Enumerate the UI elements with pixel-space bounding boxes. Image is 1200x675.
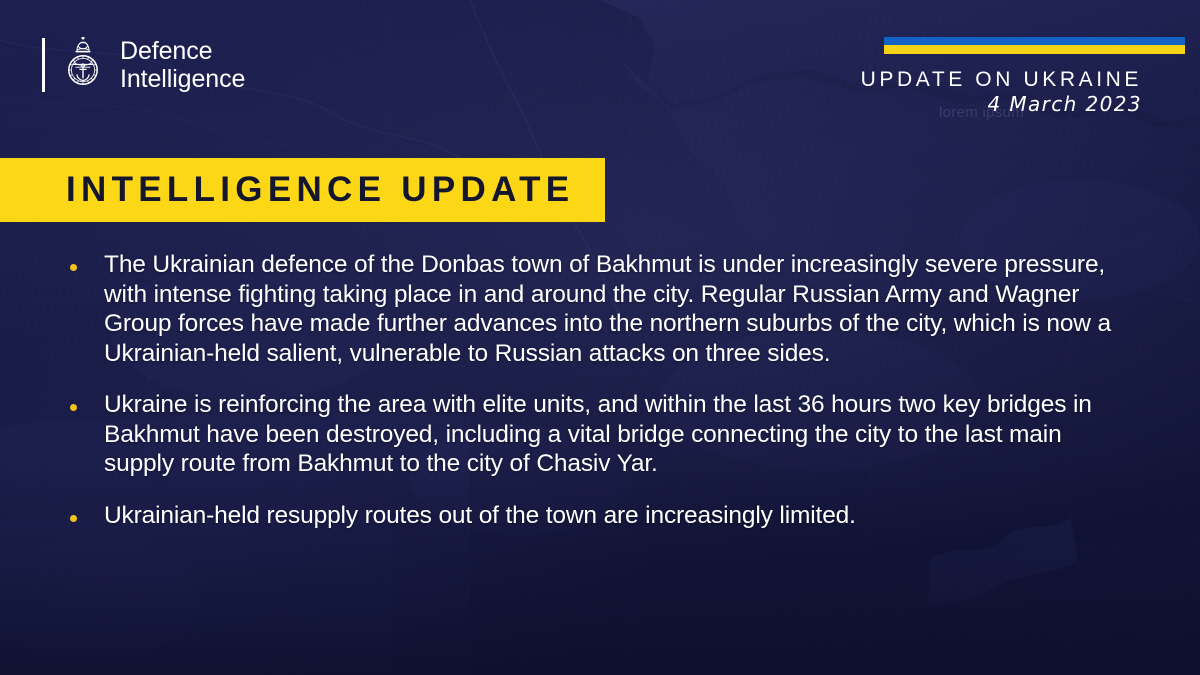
bullet-text: Ukraine is reinforcing the area with eli… [104, 390, 1120, 479]
ukraine-flag-blue-stripe [884, 37, 1185, 45]
defence-intelligence-crest-icon [59, 37, 107, 93]
update-on-ukraine-title: UPDATE ON UKRAINE [861, 68, 1142, 92]
bullet-text: Ukrainian-held resupply routes out of th… [104, 501, 1120, 531]
logo-divider-rule [42, 38, 45, 92]
ukraine-flag-bar [884, 37, 1185, 54]
banner-label: INTELLIGENCE UPDATE [66, 170, 574, 210]
brand-line-defence: Defence [120, 37, 245, 65]
brand-line-intelligence: Intelligence [120, 65, 245, 93]
bullet-dot-icon [70, 264, 77, 271]
list-item: The Ukrainian defence of the Donbas town… [0, 250, 1200, 368]
bullet-dot-icon [70, 515, 77, 522]
bullet-dot-icon [70, 404, 77, 411]
defence-intelligence-logo: Defence Intelligence [42, 34, 245, 96]
brand-wordmark: Defence Intelligence [120, 37, 245, 93]
header-title-block: UPDATE ON UKRAINE 4 March 2023 lorem ips… [861, 68, 1142, 118]
bullet-text: The Ukrainian defence of the Donbas town… [104, 250, 1120, 368]
intelligence-update-graphic: Defence Intelligence UPDATE ON UKRAINE 4… [0, 0, 1200, 675]
ukraine-flag-yellow-stripe [884, 45, 1185, 54]
header-date-wrap: 4 March 2023 lorem ipsum [861, 92, 1142, 118]
placeholder-watermark-text: lorem ipsum [939, 104, 1024, 121]
intelligence-update-banner: INTELLIGENCE UPDATE [0, 158, 605, 222]
list-item: Ukrainian-held resupply routes out of th… [0, 501, 1200, 531]
bullet-list: The Ukrainian defence of the Donbas town… [0, 250, 1200, 530]
list-item: Ukraine is reinforcing the area with eli… [0, 390, 1200, 479]
